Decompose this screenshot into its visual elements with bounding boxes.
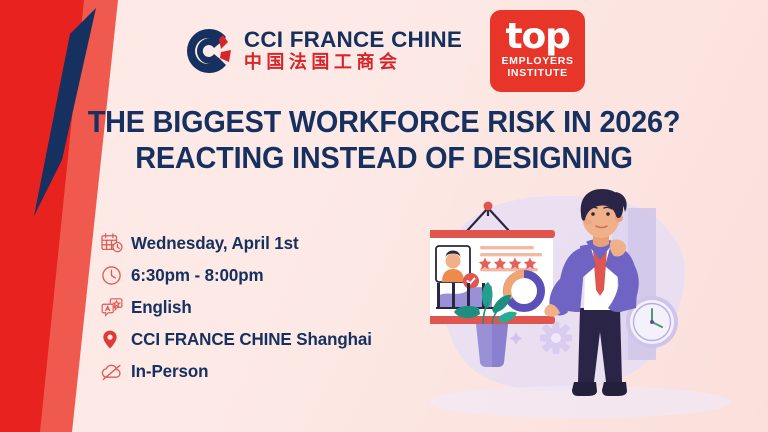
top-employers-institute-logo: top EMPLOYERS INSTITUTE xyxy=(490,10,585,92)
top-logo-word: top xyxy=(506,20,570,53)
cci-double-c-icon xyxy=(183,25,235,77)
event-title-line-1: THE BIGGEST WORKFORCE RISK IN 2026? xyxy=(88,104,681,139)
eye-right xyxy=(606,212,610,216)
detail-row-format: In-Person xyxy=(101,356,441,386)
detail-row-time: 6:30pm - 8:00pm xyxy=(101,260,441,290)
detail-row-date: Wednesday, April 1st xyxy=(101,228,441,258)
location-pin-icon xyxy=(101,327,131,351)
logo-row: CCI FRANCE CHINE 中国法国工商会 top EMPLOYERS I… xyxy=(0,8,768,94)
event-title: THE BIGGEST WORKFORCE RISK IN 2026? REAC… xyxy=(27,104,741,177)
detail-text-language: English xyxy=(131,297,192,318)
detail-text-location: CCI FRANCE CHINE Shanghai xyxy=(131,329,372,350)
language-translate-icon xyxy=(101,295,131,319)
shoe-right xyxy=(602,382,627,396)
top-logo-subtitle-institute: INSTITUTE xyxy=(507,68,568,80)
gear-icon xyxy=(540,322,572,354)
detail-text-time: 6:30pm - 8:00pm xyxy=(131,265,264,286)
board-text-line xyxy=(480,246,534,249)
cloud-slash-icon xyxy=(101,359,131,383)
event-title-line-2: REACTING INSTEAD OF DESIGNING xyxy=(27,140,741,176)
cci-logo-text-cn: 中国法国工商会 xyxy=(244,53,462,74)
board-text-line xyxy=(480,253,542,256)
illustration-businessman-presentation xyxy=(430,186,768,432)
eye-left xyxy=(591,212,595,216)
detail-row-location: CCI FRANCE CHINE Shanghai xyxy=(101,324,441,354)
calendar-clock-icon xyxy=(101,231,131,255)
event-details-list: Wednesday, April 1st 6:30pm - 8:00pm xyxy=(101,228,441,388)
cci-france-chine-logo: CCI FRANCE CHINE 中国法国工商会 xyxy=(183,25,462,77)
cci-logo-text-en: CCI FRANCE CHINE xyxy=(244,29,462,52)
detail-row-language: English xyxy=(101,292,441,322)
board-hook xyxy=(484,202,493,211)
event-banner: CCI FRANCE CHINE 中国法国工商会 top EMPLOYERS I… xyxy=(0,0,768,432)
detail-text-format: In-Person xyxy=(131,361,208,382)
detail-text-date: Wednesday, April 1st xyxy=(131,233,299,254)
clock-icon xyxy=(101,263,131,287)
shoe-left xyxy=(572,382,597,396)
